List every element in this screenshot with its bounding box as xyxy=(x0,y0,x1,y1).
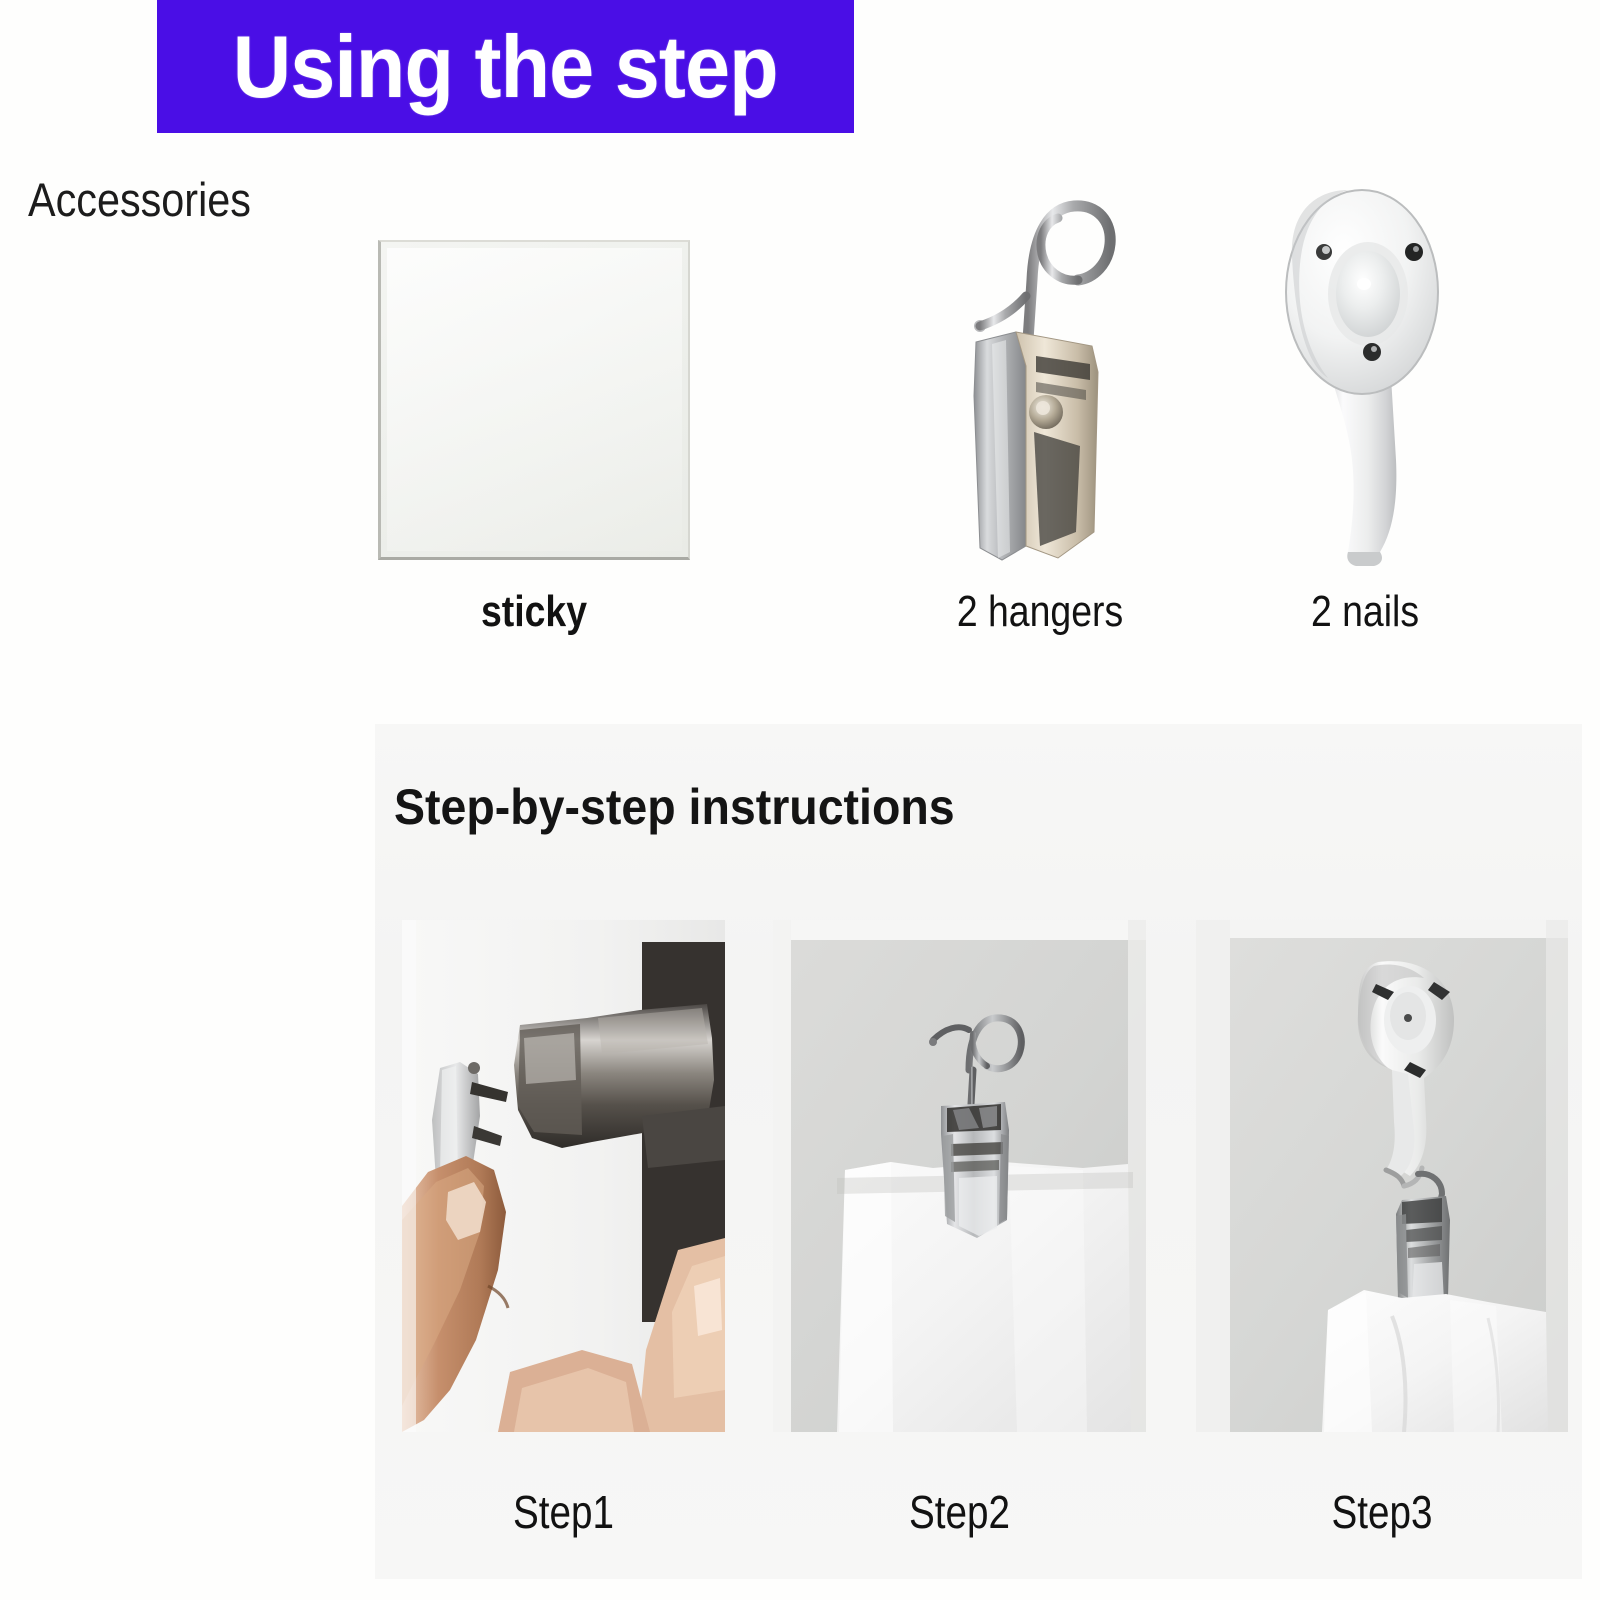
accessories-row: sticky xyxy=(0,150,1600,670)
accessory-caption-hangers: 2 hangers xyxy=(925,590,1155,634)
step-by-step-panel: Step-by-step instructions xyxy=(375,724,1582,1579)
step-caption-2: Step2 xyxy=(803,1489,1116,1535)
page-title: Using the step xyxy=(233,23,778,111)
step-photo-1 xyxy=(402,920,725,1432)
accessory-caption-nails: 2 nails xyxy=(1263,590,1467,634)
metal-clip-hanger-icon xyxy=(940,160,1140,570)
accessory-caption-sticky: sticky xyxy=(401,590,666,634)
step-caption-3: Step3 xyxy=(1226,1489,1538,1535)
step-photos-row: Step1 Step2 Step3 xyxy=(375,724,1582,1579)
step-photo-3 xyxy=(1196,920,1568,1432)
white-wall-hook-icon xyxy=(1270,160,1455,570)
adhesive-pad-square-icon xyxy=(378,240,690,560)
step-photo-2 xyxy=(773,920,1146,1432)
step-caption-1: Step1 xyxy=(428,1489,699,1535)
title-banner: Using the step xyxy=(157,0,854,133)
